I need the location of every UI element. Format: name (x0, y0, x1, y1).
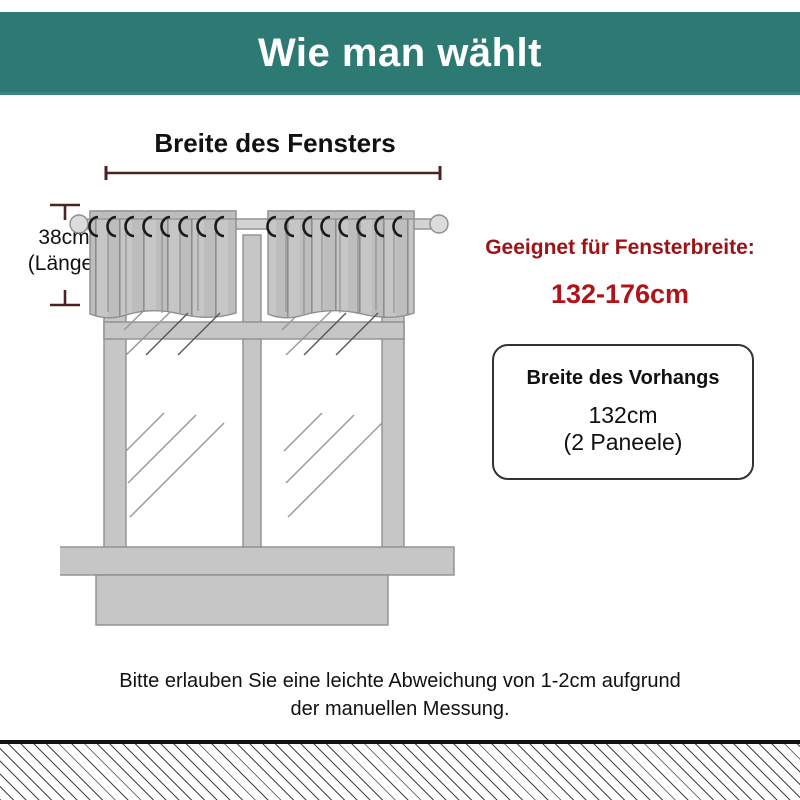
valance-panel-left (90, 211, 236, 318)
measurement-tolerance-note: Bitte erlauben Sie eine leichte Abweichu… (24, 668, 776, 723)
suitable-width-label: Geeignet für Fensterbreite: (452, 236, 788, 259)
window-with-valance-illustration (60, 195, 460, 635)
product-size-guide: Wie man wählt Breite des Fensters 38cm (… (0, 0, 800, 800)
curtain-panel-count: (2 Paneele) (564, 429, 683, 456)
page-title: Wie man wählt (258, 33, 542, 73)
suitable-width-range: 132-176cm (452, 281, 788, 308)
note-line-1: Bitte erlauben Sie eine leichte Abweichu… (24, 668, 776, 696)
window-sill (60, 547, 454, 625)
header-banner: Wie man wählt (0, 12, 800, 94)
floor-hatch-pattern (0, 744, 800, 800)
suitable-width-block: Geeignet für Fensterbreite: 132-176cm (452, 236, 788, 308)
curtain-width-value: 132cm (588, 402, 657, 429)
note-line-2: der manuellen Messung. (24, 696, 776, 724)
window-width-label: Breite des Fensters (110, 128, 440, 159)
curtain-width-title: Breite des Vorhangs (526, 368, 719, 388)
curtain-width-box: Breite des Vorhangs 132cm (2 Paneele) (492, 344, 754, 480)
window-width-dimension-line (103, 164, 443, 182)
valance-panel-right (268, 211, 414, 318)
header-underline (0, 92, 800, 95)
